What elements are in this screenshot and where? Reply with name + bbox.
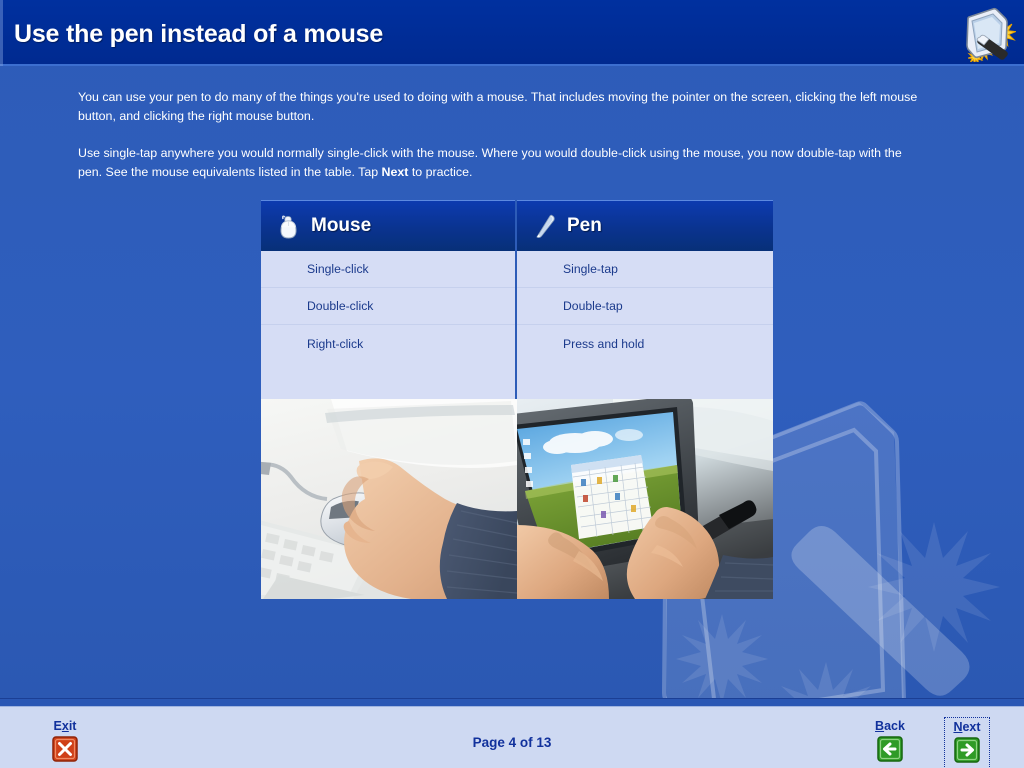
pen-icon	[531, 212, 559, 240]
table-column-mouse: Mouse Single-click Double-click Right-cl…	[261, 200, 517, 599]
titlebar-left-edge	[0, 0, 3, 66]
tutorial-page: Use the pen instead of a mouse You can u…	[0, 0, 1024, 768]
title-bar: Use the pen instead of a mouse	[0, 0, 1024, 66]
table-row: Press and hold	[517, 325, 773, 362]
table-row: Double-click	[261, 288, 515, 325]
footer-bar: Exit Page 4 of 13 Back Next	[0, 706, 1024, 768]
table-row: Single-tap	[517, 251, 773, 288]
next-label: Next	[947, 720, 987, 734]
mouse-pen-comparison-table: Mouse Single-click Double-click Right-cl…	[261, 200, 773, 599]
next-emphasis: Next	[382, 165, 409, 179]
next-button[interactable]: Next	[944, 717, 990, 768]
green-right-arrow-icon[interactable]	[954, 737, 980, 763]
back-button[interactable]: Back	[868, 719, 912, 767]
table-header-pen: Pen	[517, 200, 773, 251]
mouse-icon	[275, 212, 303, 240]
hand-using-pen-on-tablet-photo	[517, 399, 773, 599]
instruction-text: You can use your pen to do many of the t…	[78, 88, 921, 200]
table-row: Double-tap	[517, 288, 773, 325]
paragraph-1: You can use your pen to do many of the t…	[78, 88, 921, 126]
paragraph-2-part-1: Use single-tap anywhere you would normal…	[78, 146, 902, 179]
table-column-pen: Pen Single-tap Double-tap Press and hold	[517, 200, 773, 599]
table-header-label-mouse: Mouse	[311, 215, 371, 237]
table-row: Single-click	[261, 251, 515, 288]
page-title: Use the pen instead of a mouse	[14, 20, 383, 49]
table-header-mouse: Mouse	[261, 200, 515, 251]
table-filler	[261, 362, 515, 399]
tablet-pen-icon	[958, 4, 1016, 62]
table-row: Right-click	[261, 325, 515, 362]
paragraph-2: Use single-tap anywhere you would normal…	[78, 144, 921, 182]
hand-on-mouse-photo	[261, 399, 517, 599]
green-left-arrow-icon[interactable]	[877, 736, 903, 762]
table-header-label-pen: Pen	[567, 215, 602, 237]
footer-accent-strip	[0, 698, 1024, 706]
paragraph-2-part-2: to practice.	[408, 165, 472, 179]
back-label: Back	[868, 719, 912, 733]
table-filler	[517, 362, 773, 399]
exit-label: Exit	[43, 719, 87, 733]
